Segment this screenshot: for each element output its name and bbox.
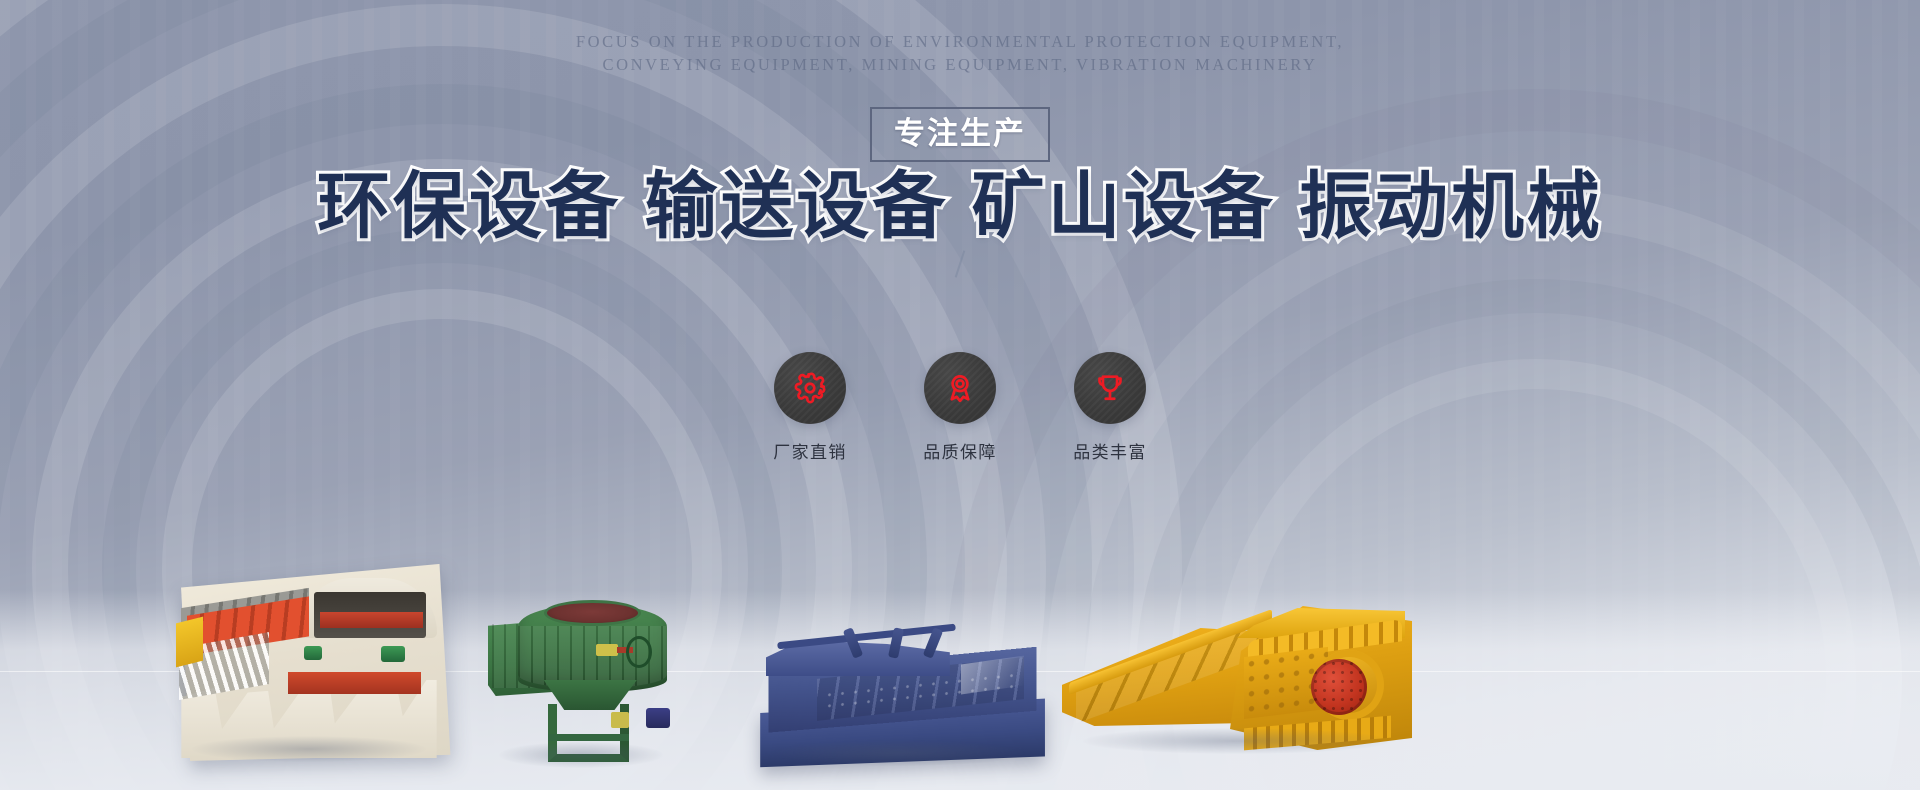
trophy-icon [1093, 371, 1127, 405]
feature-label: 品类丰富 [1051, 438, 1169, 463]
feature-icon-circle [774, 352, 846, 424]
feature-item-rich-variety[interactable]: 品类丰富 [1051, 352, 1169, 463]
medal-icon [943, 371, 977, 405]
feature-icon-circle [924, 352, 996, 424]
feature-icon-circle [1074, 352, 1146, 424]
product-image-row [0, 470, 1920, 790]
product-image-sinter-conveyor [176, 576, 442, 758]
hero-banner: FOCUS ON THE PRODUCTION OF ENVIRONMENTAL… [0, 0, 1920, 790]
page-title: 环保设备 输送设备 矿山设备 振动机械 [0, 168, 1920, 247]
feature-label: 厂家直销 [751, 438, 869, 463]
product-image-green-disc-feeder [488, 596, 674, 764]
product-image-blue-vibrating-screen [754, 612, 1042, 762]
focus-badge: 专注生产 [870, 107, 1050, 162]
feature-item-factory-direct[interactable]: 厂家直销 [751, 352, 869, 463]
feature-list: 厂家直销 品质保障 [751, 352, 1169, 463]
product-image-yellow-grizzly-feeder [1062, 584, 1412, 750]
eyebrow-text: FOCUS ON THE PRODUCTION OF ENVIRONMENTAL… [0, 30, 1920, 76]
feature-item-quality-assured[interactable]: 品质保障 [901, 352, 1019, 463]
feature-label: 品质保障 [901, 438, 1019, 463]
gear-icon [793, 371, 827, 405]
focus-badge-label: 专注生产 [894, 116, 1026, 151]
